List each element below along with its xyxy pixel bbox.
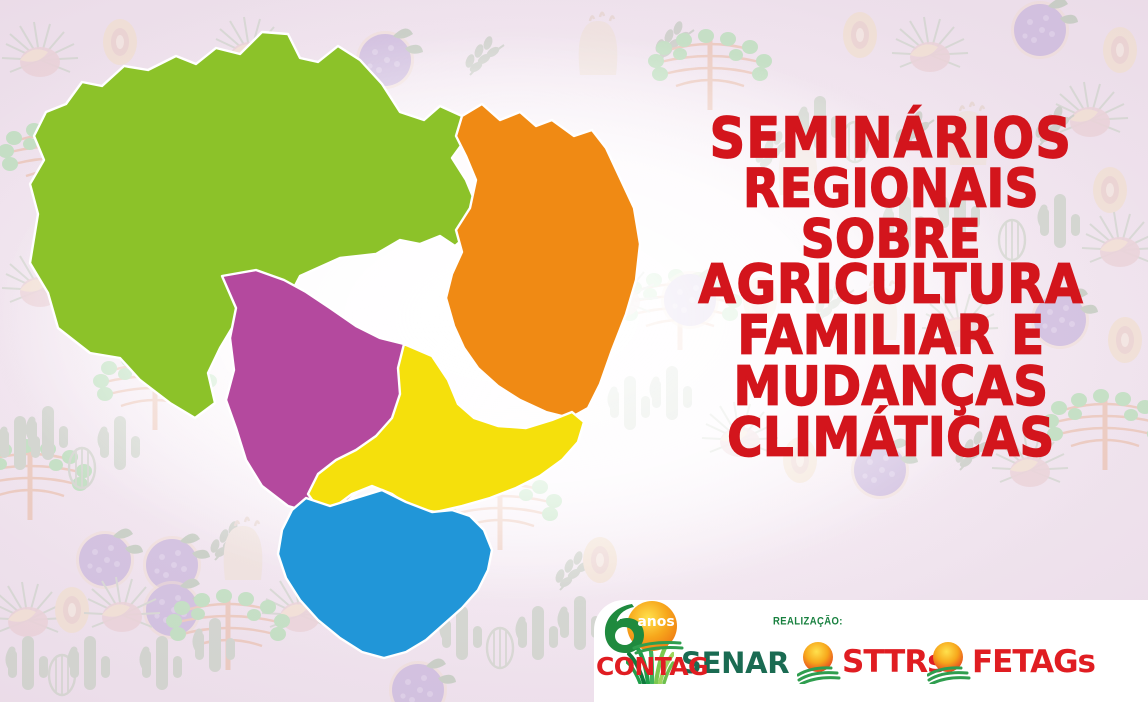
sponsor-logo-panel: APOIO: REALIZAÇÃO: <box>594 600 1148 702</box>
title-line-1: SEMINÁRIOS <box>672 112 1110 165</box>
logo-sttrs[interactable]: STTRs <box>797 640 945 684</box>
logo-fetags-word: FETAGs <box>972 644 1095 680</box>
sun-field-icon <box>797 640 841 684</box>
region-nordeste <box>446 104 640 418</box>
brazil-regions-map <box>0 8 700 668</box>
realization-caption: REALIZAÇÃO: <box>773 615 843 628</box>
title-line-2: REGIONAIS SOBRE <box>672 164 1110 265</box>
title-line-4: FAMILIAR E <box>672 310 1110 362</box>
sixty-years-sun-icon: anos <box>594 600 690 656</box>
title-line-6: CLIMÁTICAS <box>672 412 1110 464</box>
title-line-5: MUDANÇAS <box>672 361 1110 413</box>
region-sul <box>278 490 492 658</box>
page-title: SEMINÁRIOS REGIONAIS SOBRE AGRICULTURA F… <box>672 112 1110 464</box>
sun-field-icon <box>927 640 971 684</box>
title-line-3: AGRICULTURA <box>672 259 1110 311</box>
contag-anos-label: anos <box>637 614 674 630</box>
logo-fetags[interactable]: FETAGs <box>927 640 1095 684</box>
poster-canvas: SEMINÁRIOS REGIONAIS SOBRE AGRICULTURA F… <box>0 0 1148 702</box>
logo-contag[interactable]: anos CONTAG <box>594 600 690 684</box>
logo-contag-word: CONTAG <box>596 652 692 681</box>
